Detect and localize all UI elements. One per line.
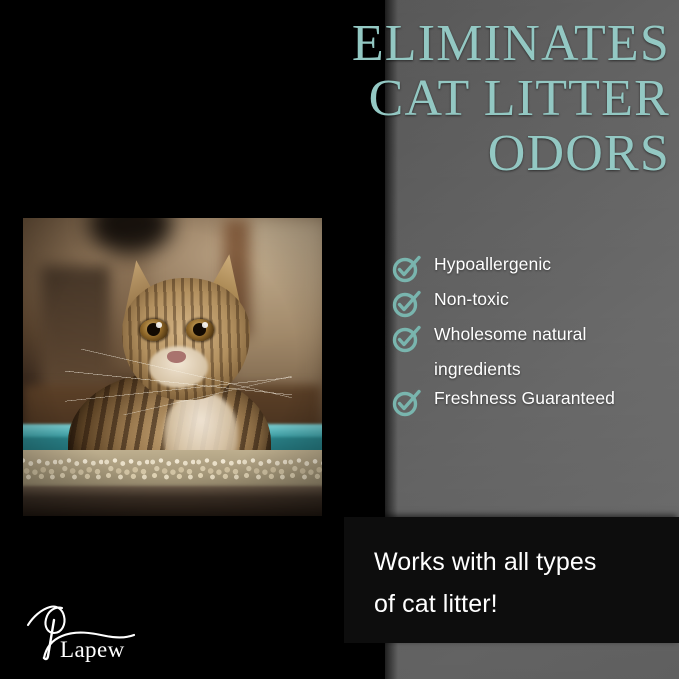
feature-label: ingredients: [434, 357, 521, 382]
feature-item: Wholesome natural: [392, 322, 677, 353]
headline-line-2: CAT LITTER: [270, 71, 670, 126]
headline-line-1: ELIMINATES: [270, 16, 670, 71]
callout-panel: Works with all types of cat litter!: [344, 517, 679, 643]
kitten-eye-right: [186, 319, 214, 340]
feature-item: Hypoallergenic: [392, 252, 677, 283]
headline: ELIMINATES CAT LITTER ODORS: [270, 16, 670, 181]
photo-scene: [23, 218, 322, 516]
feature-item: Freshness Guaranteed: [392, 386, 677, 417]
check-circle-icon: [392, 288, 422, 318]
callout-line-1: Works with all types: [374, 541, 664, 583]
feature-item: Non-toxic: [392, 287, 677, 318]
kitten-litter-box-photo: [23, 218, 322, 516]
brand-logo: Lapew: [22, 600, 182, 668]
check-circle-icon: [392, 323, 422, 353]
feature-label: Wholesome natural: [434, 322, 586, 347]
product-infographic: ELIMINATES CAT LITTER ODORS: [0, 0, 679, 679]
litter-tray-lip: [23, 486, 322, 516]
callout-line-2: of cat litter!: [374, 583, 664, 625]
feature-label: Hypoallergenic: [434, 252, 551, 277]
kitten-eye-left: [140, 319, 168, 340]
check-circle-icon: [392, 253, 422, 283]
feature-list: Hypoallergenic Non-toxic Wholesome natur…: [392, 252, 677, 421]
feature-label: Freshness Guaranteed: [434, 386, 615, 411]
kitten-nose: [167, 351, 186, 364]
feature-label: Non-toxic: [434, 287, 509, 312]
feature-indent-spacer: [392, 357, 434, 358]
feature-item-continuation: ingredients: [392, 357, 677, 382]
headline-line-3: ODORS: [270, 126, 670, 181]
callout-text: Works with all types of cat litter!: [374, 541, 664, 625]
brand-wordmark: Lapew: [60, 638, 125, 661]
check-circle-icon: [392, 387, 422, 417]
